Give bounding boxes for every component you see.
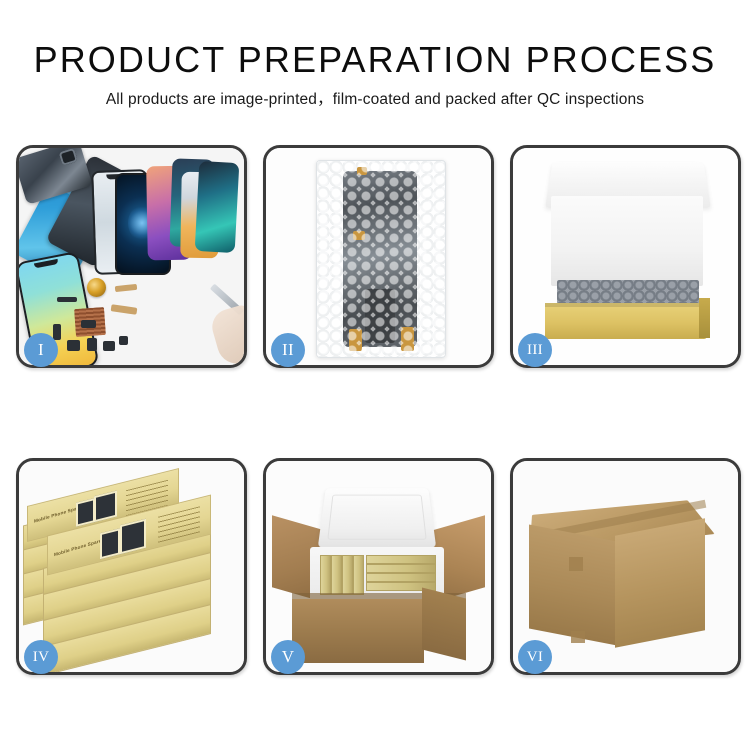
gold-connector-icon-1	[357, 167, 367, 175]
yellow-box-v3	[342, 555, 353, 595]
phone-display-teal2-icon	[195, 161, 240, 253]
step-panel-printed-box-stack: Mobile Phone Spare Parts Mobile Phone Sp…	[16, 458, 247, 675]
box-spec-lines-2	[158, 506, 200, 542]
foam-backing-icon	[551, 196, 703, 286]
carton-right-face-icon	[615, 518, 705, 647]
box-stack: Mobile Phone Spare Parts Mobile Phone Sp…	[19, 461, 244, 672]
chip-icon-3	[87, 338, 97, 351]
yellow-box-h2	[366, 564, 436, 573]
yellow-box-v4	[353, 555, 364, 595]
wrapped-part-icon	[343, 171, 417, 347]
page-subtitle: All products are image-printed，film-coat…	[0, 90, 750, 109]
step-badge-6: VI	[518, 640, 552, 674]
printed-box-stack-image: Mobile Phone Spare Parts Mobile Phone Sp…	[19, 461, 244, 672]
chip-icon-6	[81, 320, 96, 328]
kraft-box-front-icon	[545, 303, 707, 339]
yellow-box-v1	[320, 555, 331, 595]
carton-tape-icon-2	[571, 631, 585, 643]
gold-connector-icon-4	[401, 327, 414, 351]
box-window-1b	[94, 491, 117, 523]
gold-connector-icon-3	[349, 329, 362, 351]
carton-left-face-icon	[529, 524, 617, 645]
styrofoam-lid-icon	[318, 488, 437, 548]
speaker-coil-icon	[87, 278, 106, 297]
chip-icon-7	[53, 324, 61, 340]
step-badge-3: III	[518, 333, 552, 367]
bubble-wrap-bag-icon	[316, 160, 446, 358]
yellow-box-group	[318, 553, 436, 595]
carton-front-icon	[292, 599, 424, 663]
foam-box-image	[513, 148, 738, 365]
styrofoam-carton-image	[266, 461, 491, 672]
bubble-wrap-image	[266, 148, 491, 365]
chip-icon-5	[119, 336, 128, 345]
gold-connector-icon-2	[353, 231, 365, 240]
step-panel-parts-layout: I	[16, 145, 247, 368]
step-panel-bubble-wrap: II	[263, 145, 494, 368]
step-badge-4: IV	[24, 640, 58, 674]
sealed-carton-image	[513, 461, 738, 672]
carton-tape-icon-1	[569, 557, 583, 571]
chip-icon-1	[57, 297, 77, 302]
step-panel-sealed-carton: VI	[510, 458, 741, 675]
page-title: PRODUCT PREPARATION PROCESS	[0, 40, 750, 80]
yellow-box-h1	[366, 555, 436, 564]
yellow-box-v2	[331, 555, 342, 595]
carton-side-icon	[422, 588, 466, 661]
process-step-grid: I II III	[16, 145, 741, 675]
step-badge-5: V	[271, 640, 305, 674]
chip-icon-4	[103, 341, 115, 351]
box-window-2b	[120, 519, 146, 554]
kraft-box-side-icon	[699, 298, 710, 338]
flex-cable-icon-2	[111, 304, 138, 315]
page-header: PRODUCT PREPARATION PROCESS All products…	[0, 0, 750, 109]
box-window-2a	[100, 528, 120, 559]
step-badge-2: II	[271, 333, 305, 367]
hand-icon	[208, 304, 244, 365]
step-badge-1: I	[24, 333, 58, 367]
step-panel-styrofoam-carton: V	[263, 458, 494, 675]
chip-icon-2	[67, 340, 80, 351]
flex-cable-icon-1	[115, 284, 138, 292]
parts-layout-image	[19, 148, 244, 365]
yellow-box-h3	[366, 573, 436, 582]
box-window-1a	[76, 498, 95, 527]
step-panel-foam-box: III	[510, 145, 741, 368]
